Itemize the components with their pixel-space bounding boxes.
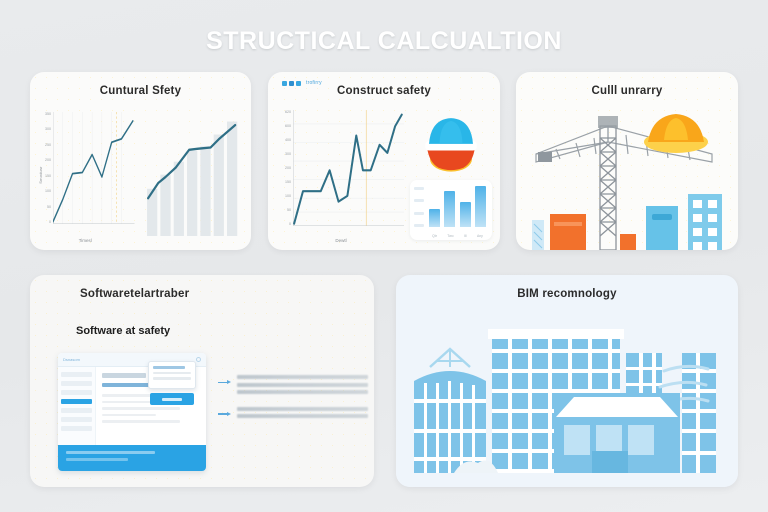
bar [444,191,455,227]
tick: 620 [278,110,291,114]
construct-plot-area [293,110,404,226]
popover-line [153,372,191,375]
sidebar-item[interactable] [61,390,92,395]
x-axis-label: Dewtl [276,238,406,243]
tick: 350 [38,112,51,116]
y-axis-ticks: 350 300 250 200 150 100 50 0 [38,112,51,224]
tick: 250 [38,143,51,147]
form-line [102,420,180,423]
tick-mark [414,187,424,190]
construct-mini-bar-chart: Qtr Two III Any [410,180,492,240]
footer-line [66,458,128,461]
sidebar-item[interactable] [61,372,92,377]
form-line [102,407,180,410]
tick: 0 [38,220,51,224]
tick: 0 [278,222,291,226]
cultural-bar-plot-area [145,118,248,236]
tick-mark [414,212,424,215]
arrow-right-icon [218,412,231,416]
card-title-cultural: Cuntural Sfety [30,72,251,97]
chart-legend: trofirry [282,80,322,86]
sidebar-item[interactable] [61,426,92,431]
construct-right-column: Qtr Two III Any [408,108,494,242]
app-sidebar[interactable] [58,367,96,445]
tick: 400 [278,138,291,142]
y-axis-ticks: 620 600 400 300 200 150 100 50 0 [278,110,291,226]
card-title-bim: BIM recomnology [396,275,738,300]
card-construct-safety[interactable]: Construct safety trofirry 620 600 400 30… [268,72,500,250]
cultural-line-chart: Smodusr 350 300 250 200 150 100 50 0 [30,106,141,244]
arrow-right-icon [218,380,231,384]
legend-label: trofirry [306,80,322,86]
software-subtitle: Software at safety [76,325,170,337]
popover-line [153,377,191,380]
tick: 600 [278,124,291,128]
form-line [102,401,156,404]
tick: 150 [278,180,291,184]
legend-swatch-2 [289,81,294,86]
bar [475,186,486,227]
app-footer-bar [58,445,206,471]
bullet-text [237,375,368,398]
tick: 300 [38,127,51,131]
city-skyline-icon [396,305,738,487]
x-axis-label: Timesl [30,238,141,243]
tick: Qtr [432,234,437,238]
sidebar-item[interactable] [61,417,92,422]
bar [460,202,471,227]
poster-page: STRUCTICAL CALCUALTION Cuntural Sfety Sm… [0,0,768,512]
hard-hat-icon [408,108,494,174]
app-window-title: Dsnasorn [63,357,80,362]
tick: 200 [38,158,51,162]
page-title: STRUCTICAL CALCUALTION [0,27,768,56]
sidebar-item[interactable] [61,408,92,413]
list-item [218,375,368,398]
card-crane[interactable]: Culll unrarry [516,72,738,250]
sidebar-item[interactable] [61,381,92,386]
popover-menu[interactable] [148,361,196,389]
bullet-list [218,375,368,431]
cultural-plot-area [53,112,135,224]
footer-line [66,451,155,454]
tick: 100 [278,194,291,198]
tick: 50 [278,208,291,212]
card-bim[interactable]: BIM recomnology [396,275,738,487]
gear-icon[interactable] [196,357,201,362]
tick: Two [447,234,453,238]
card-cultural-safety[interactable]: Cuntural Sfety Smodusr 350 300 250 200 1… [30,72,251,250]
construct-line-chart: 620 600 400 300 200 150 100 50 0 [276,108,406,244]
card-title-crane: Culll unrarry [516,72,738,97]
legend-swatch-3 [296,81,301,86]
mini-bars [427,186,488,227]
bar [429,209,440,227]
mini-y-axis [414,187,424,227]
tick: 50 [38,205,51,209]
tick: III [464,234,467,238]
tick-mark [414,224,424,227]
mini-x-axis: Qtr Two III Any [427,234,488,238]
tick: Any [477,234,483,238]
primary-action-button[interactable] [150,393,194,405]
card-software[interactable]: Softwaretelartraber Software at safety D… [30,275,374,487]
tick: 100 [38,189,51,193]
legend-swatch-1 [282,81,287,86]
tower-crane-icon [516,102,738,250]
list-item [218,407,368,422]
tick-mark [414,199,424,202]
bullet-text [237,407,368,422]
cultural-chart-row: Smodusr 350 300 250 200 150 100 50 0 [30,106,251,244]
form-line [102,414,156,417]
tick: 300 [278,152,291,156]
panel-heading [102,373,146,378]
sidebar-item-selected[interactable] [61,399,92,404]
tick: 150 [38,174,51,178]
tick: 200 [278,166,291,170]
card-title-software: Softwaretelartraber [30,275,374,300]
cultural-bar-chart [141,106,252,244]
popover-line [153,366,185,369]
